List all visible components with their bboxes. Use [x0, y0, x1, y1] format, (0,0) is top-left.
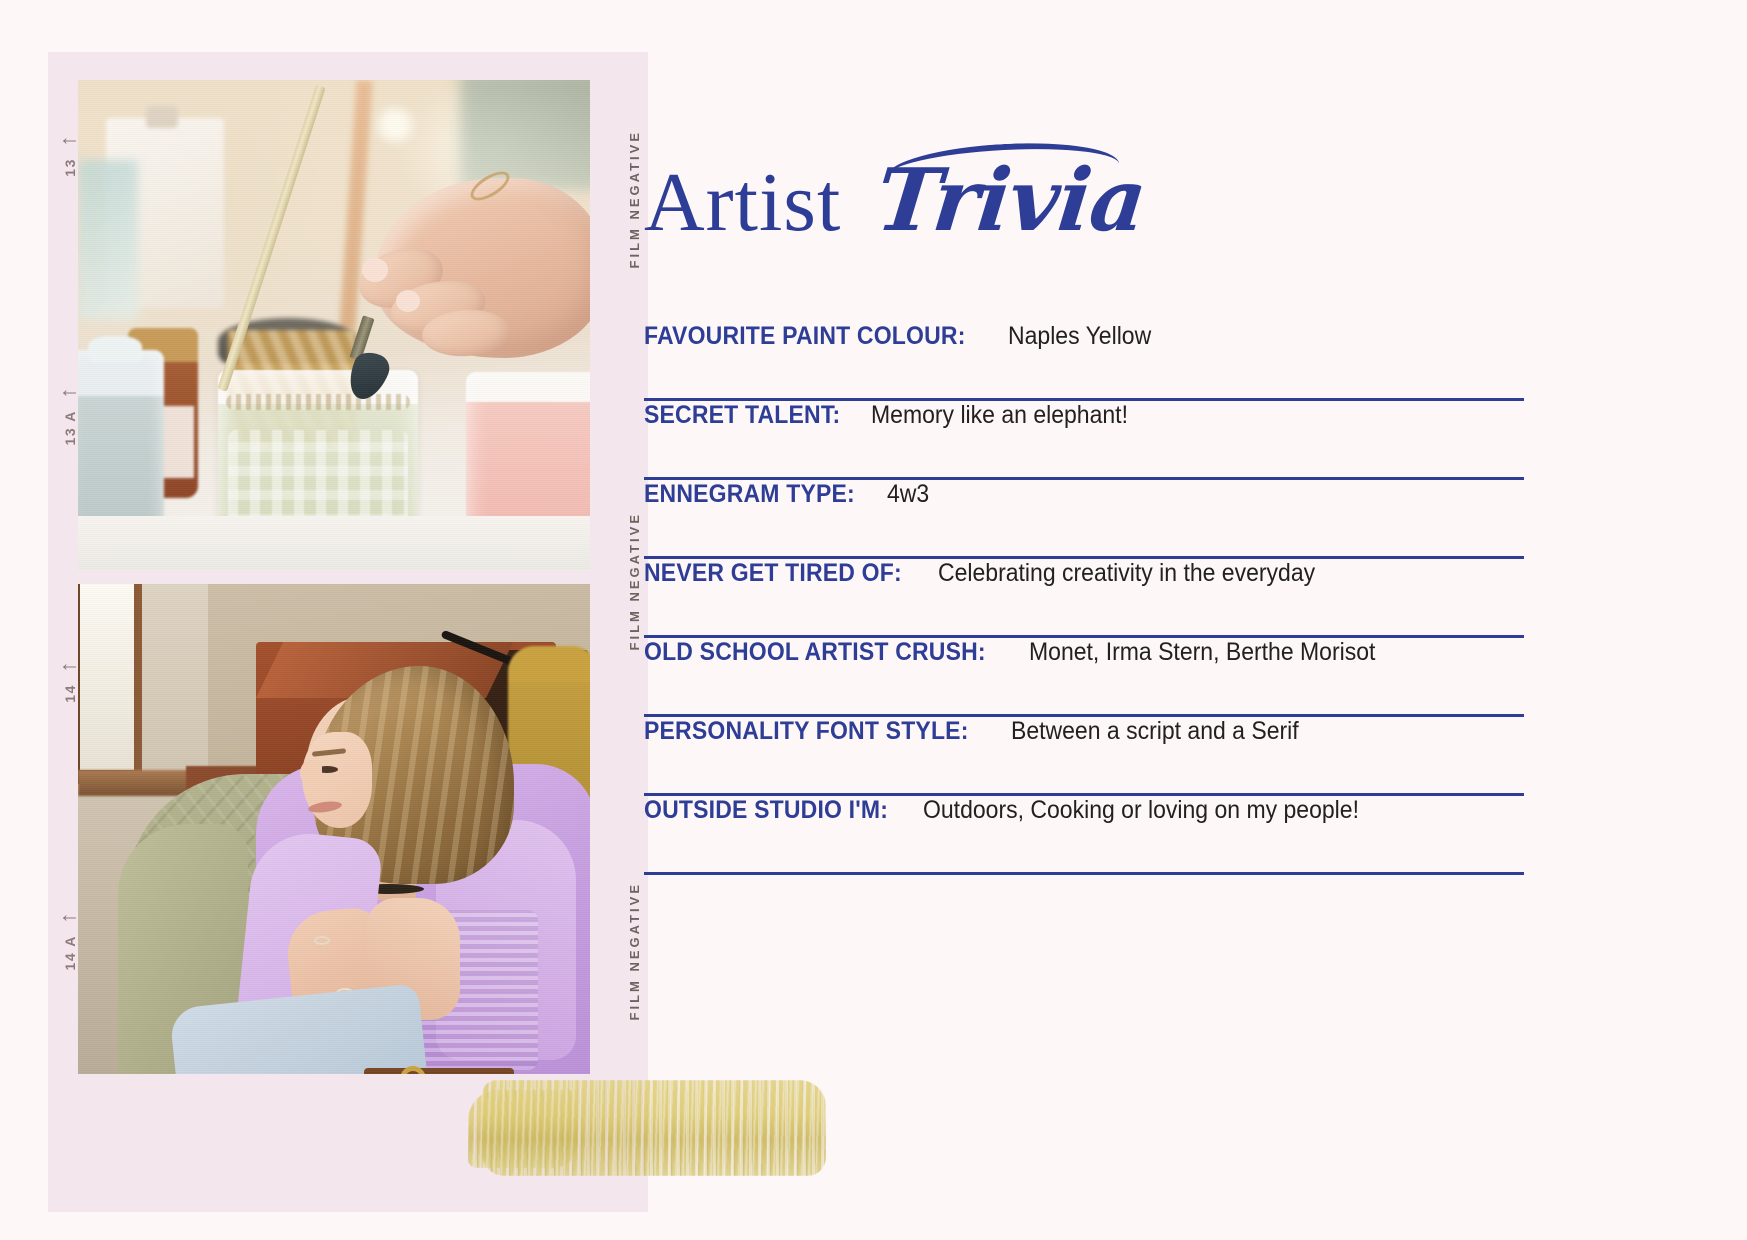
trivia-row: OLD SCHOOL ARTIST CRUSH: Monet, Irma Ste…: [644, 638, 1524, 717]
trivia-line: NEVER GET TIRED OF: Celebrating creativi…: [644, 559, 1524, 635]
ring-shape: [314, 936, 330, 945]
film-negative-label: FILM NEGATIVE: [627, 512, 642, 650]
trivia-value: Naples Yellow: [1008, 322, 1151, 351]
down-arrow-icon: ↓: [59, 388, 81, 399]
trivia-value: Monet, Irma Stern, Berthe Morisot: [1029, 638, 1375, 667]
page-canvas: ↓ 13 ↓ 13 A ↓ 14 ↓ 14 A FILM NEGATIVE FI…: [0, 0, 1747, 1240]
title-word-trivia: Trivia: [872, 150, 1151, 251]
trivia-label: PERSONALITY FONT STYLE:: [644, 717, 969, 746]
trivia-row: SECRET TALENT: Memory like an elephant!: [644, 401, 1524, 480]
film-frame-number: 13: [62, 158, 78, 177]
trivia-value: Outdoors, Cooking or loving on my people…: [923, 796, 1359, 825]
trivia-row: ENNEGRAM TYPE: 4w3: [644, 480, 1524, 559]
nose-shape: [300, 760, 322, 786]
content-panel: ArtistTrivia FAVOURITE PAINT COLOUR: Nap…: [644, 0, 1684, 1240]
trivia-value: Memory like an elephant!: [871, 401, 1128, 430]
film-frame-number: 13 A: [62, 410, 78, 445]
photo-woman-with-mug: [78, 584, 590, 1074]
down-arrow-icon: ↓: [59, 136, 81, 147]
marble-counter-shape: [78, 516, 590, 570]
teal-artwork-shape: [78, 160, 138, 320]
film-negative-label: FILM NEGATIVE: [627, 130, 642, 268]
page-title: ArtistTrivia: [644, 150, 1145, 251]
trivia-line: PERSONALITY FONT STYLE: Between a script…: [644, 717, 1524, 793]
trivia-value: Celebrating creativity in the everyday: [938, 559, 1315, 588]
trivia-label: ENNEGRAM TYPE:: [644, 480, 855, 509]
trivia-line: SECRET TALENT: Memory like an elephant!: [644, 401, 1524, 477]
photo-paintbrush-in-glass: [78, 80, 590, 570]
belt-shape: [364, 1068, 514, 1074]
down-arrow-icon: ↓: [59, 913, 81, 924]
film-strip: ↓ 13 ↓ 13 A ↓ 14 ↓ 14 A FILM NEGATIVE FI…: [48, 52, 648, 1212]
trivia-label: OUTSIDE STUDIO I'M:: [644, 796, 888, 825]
film-marker-13: ↓ 13: [48, 130, 92, 177]
trivia-line: FAVOURITE PAINT COLOUR: Naples Yellow: [644, 322, 1524, 398]
trivia-row: NEVER GET TIRED OF: Celebrating creativi…: [644, 559, 1524, 638]
trivia-line: ENNEGRAM TYPE: 4w3: [644, 480, 1524, 556]
title-word-artist: Artist: [644, 156, 841, 249]
trivia-label: FAVOURITE PAINT COLOUR:: [644, 322, 966, 351]
trivia-list: FAVOURITE PAINT COLOUR: Naples Yellow SE…: [644, 322, 1524, 875]
trivia-label: NEVER GET TIRED OF:: [644, 559, 902, 588]
trivia-row: PERSONALITY FONT STYLE: Between a script…: [644, 717, 1524, 796]
fingernail-shape: [362, 258, 388, 282]
trivia-row: OUTSIDE STUDIO I'M: Outdoors, Cooking or…: [644, 796, 1524, 875]
trivia-label: SECRET TALENT:: [644, 401, 840, 430]
trivia-line: OUTSIDE STUDIO I'M: Outdoors, Cooking or…: [644, 796, 1524, 872]
trivia-label: OLD SCHOOL ARTIST CRUSH:: [644, 638, 986, 667]
film-frame-number: 14 A: [62, 935, 78, 970]
down-arrow-icon: ↓: [59, 662, 81, 673]
film-marker-14a: ↓ 14 A: [48, 907, 92, 970]
row-divider: [644, 872, 1524, 875]
trivia-line: OLD SCHOOL ARTIST CRUSH: Monet, Irma Ste…: [644, 638, 1524, 714]
film-frame-number: 14: [62, 684, 78, 703]
film-marker-13a: ↓ 13 A: [48, 382, 92, 445]
trivia-value: 4w3: [887, 480, 929, 509]
film-frames: [78, 80, 590, 1074]
trivia-value: Between a script and a Serif: [1011, 717, 1299, 746]
film-marker-14: ↓ 14: [48, 656, 92, 703]
fingernail-shape: [396, 290, 420, 312]
film-negative-label: FILM NEGATIVE: [627, 882, 642, 1020]
trivia-row: FAVOURITE PAINT COLOUR: Naples Yellow: [644, 322, 1524, 401]
